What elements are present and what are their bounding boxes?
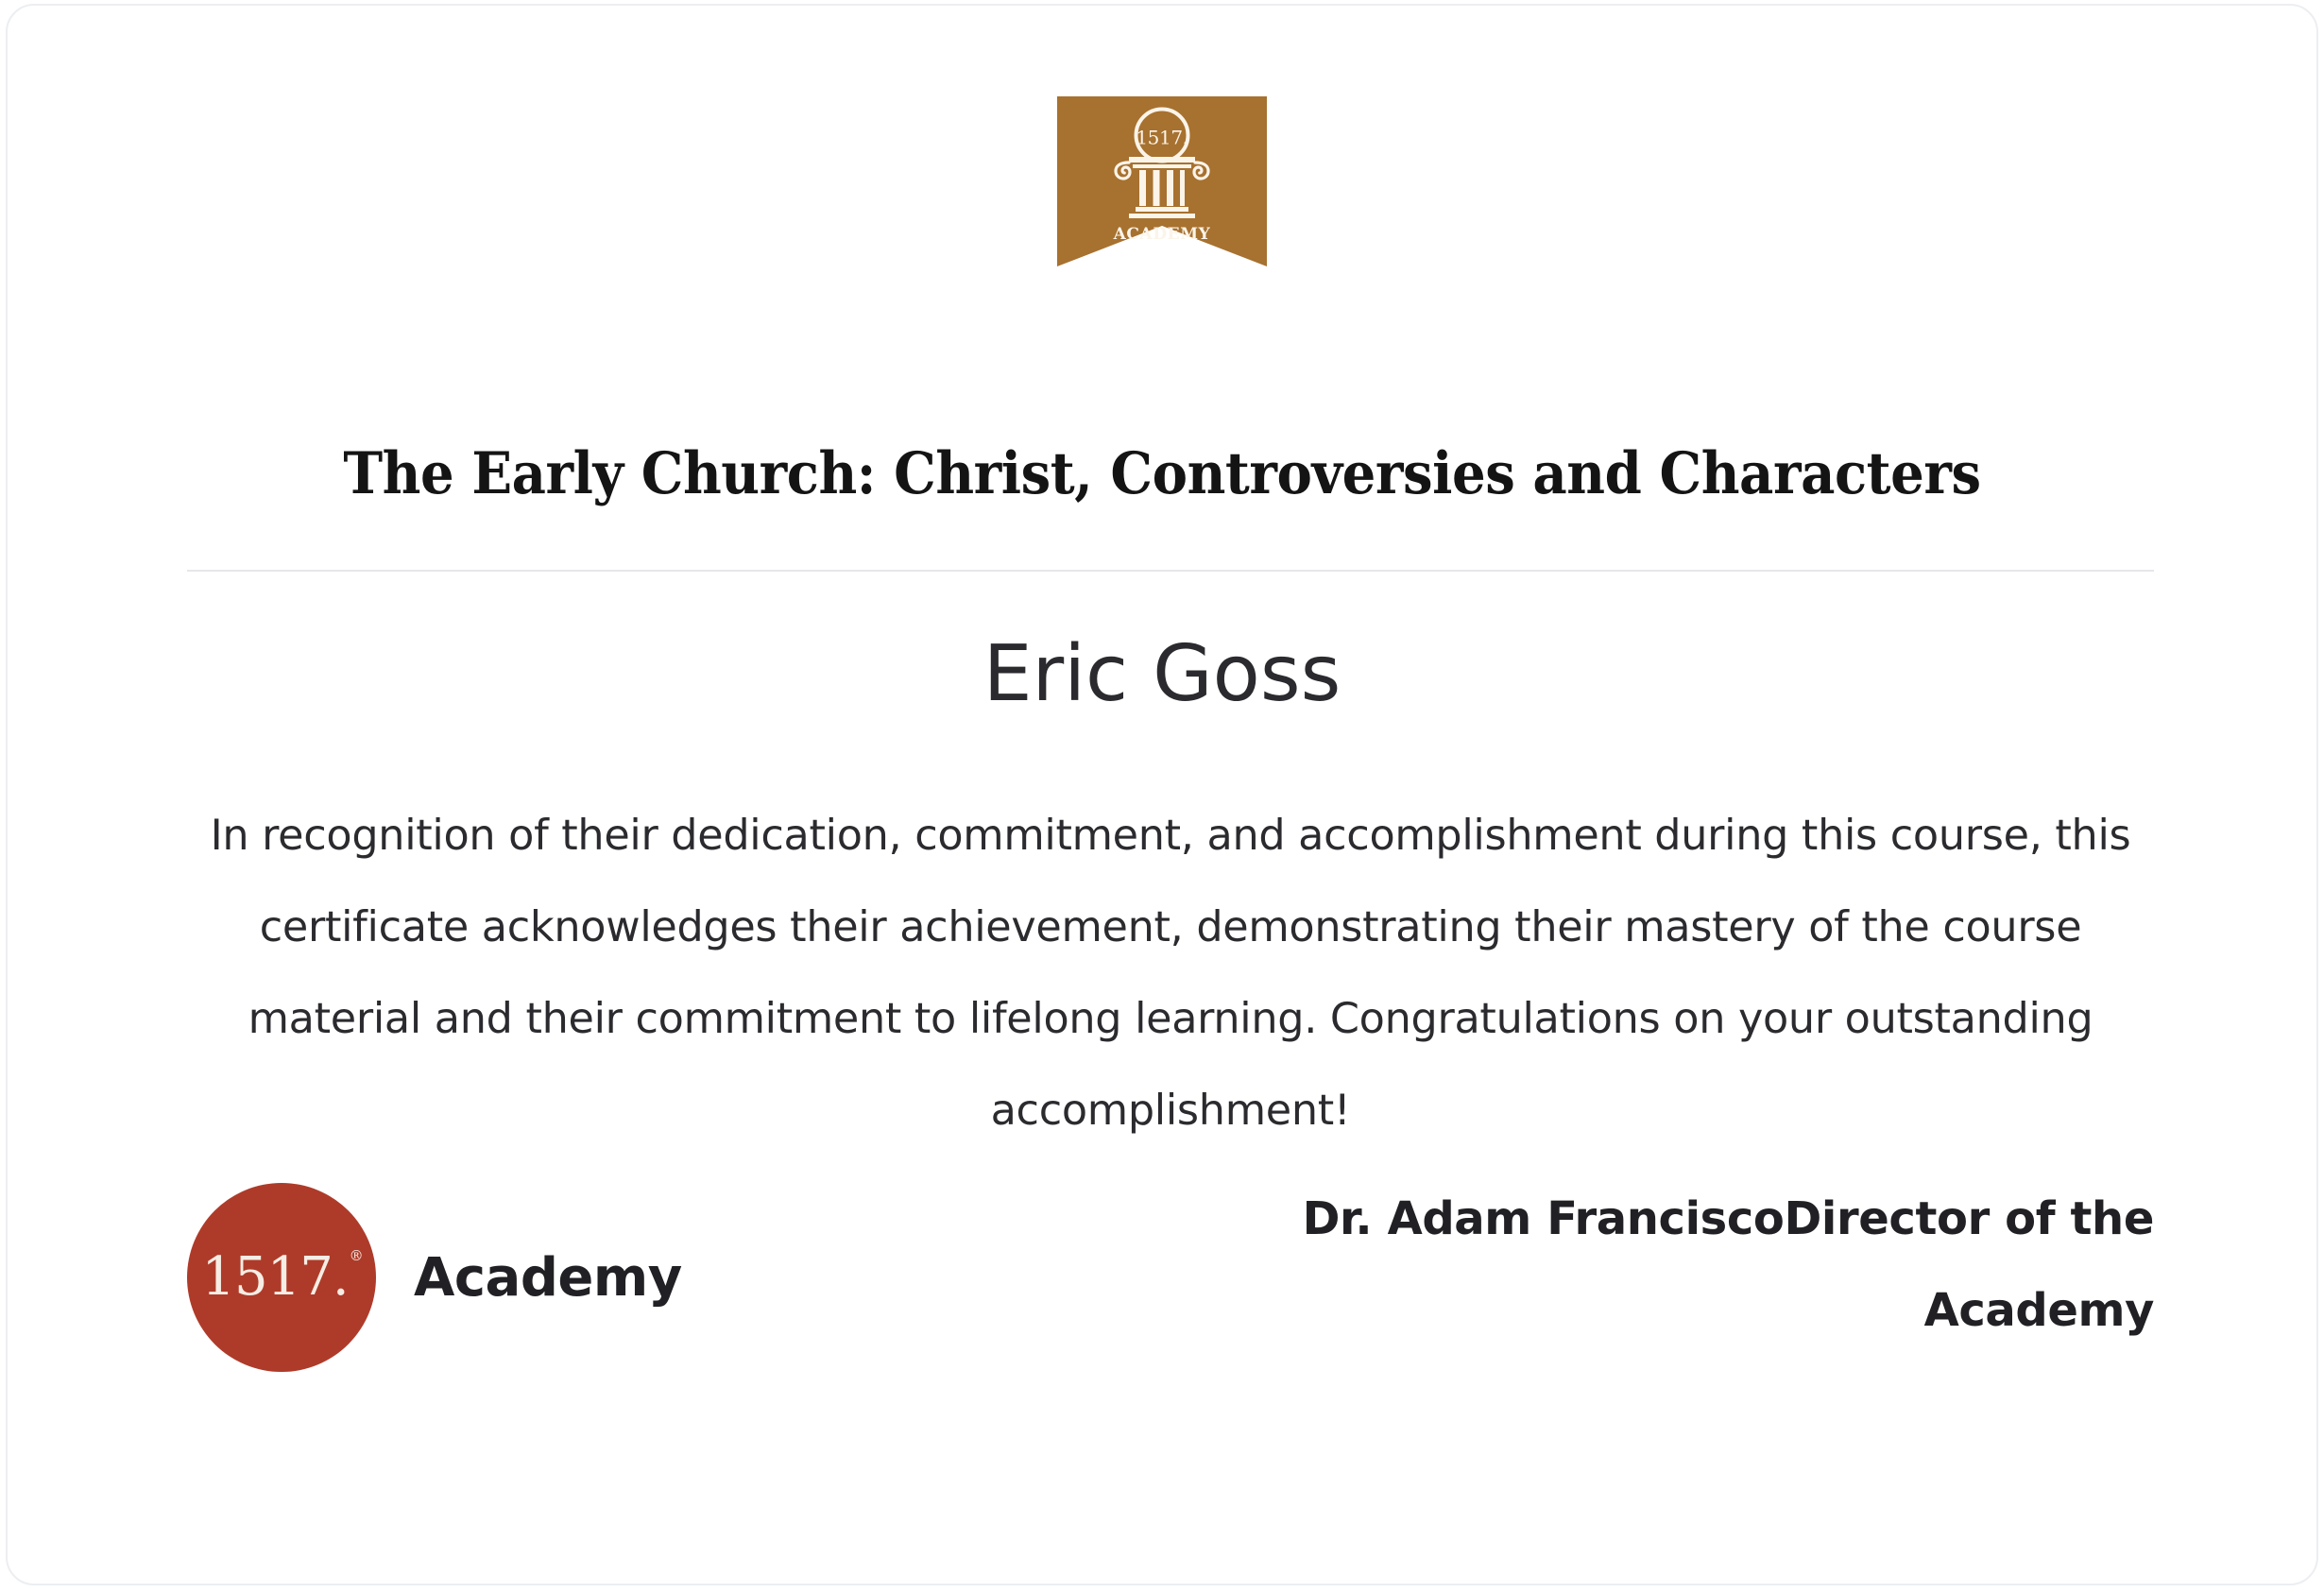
title-divider bbox=[187, 570, 2154, 572]
academy-seal-block: 1517.® Academy bbox=[187, 1170, 682, 1372]
certificate-body-text: In recognition of their dedication, comm… bbox=[187, 790, 2154, 1156]
academy-label: Academy bbox=[414, 1247, 682, 1309]
certificate-card: 1517. ACADEMY The Early Chu bbox=[6, 4, 2318, 1585]
logo-container: 1517. ACADEMY bbox=[8, 96, 2316, 266]
seal-year-label: 1517.® bbox=[201, 1251, 361, 1304]
banner-logo-icon: 1517. ACADEMY bbox=[1057, 96, 1267, 266]
svg-text:1517.: 1517. bbox=[1136, 127, 1188, 149]
signatory-block: Dr. Adam FranciscoDirector of the Academ… bbox=[1200, 1170, 2154, 1357]
seal-year-text: 1517. bbox=[201, 1246, 348, 1308]
svg-text:ACADEMY: ACADEMY bbox=[1113, 225, 1211, 244]
registered-trademark-icon: ® bbox=[350, 1247, 363, 1264]
1517-seal-icon: 1517.® bbox=[187, 1183, 376, 1372]
certificate-footer: 1517.® Academy Dr. Adam FranciscoDirecto… bbox=[187, 1170, 2154, 1372]
1517-academy-banner-logo: 1517. ACADEMY bbox=[1057, 96, 1267, 266]
page-title: The Early Church: Christ, Controversies … bbox=[100, 442, 2224, 505]
recipient-name: Eric Goss bbox=[8, 629, 2316, 719]
